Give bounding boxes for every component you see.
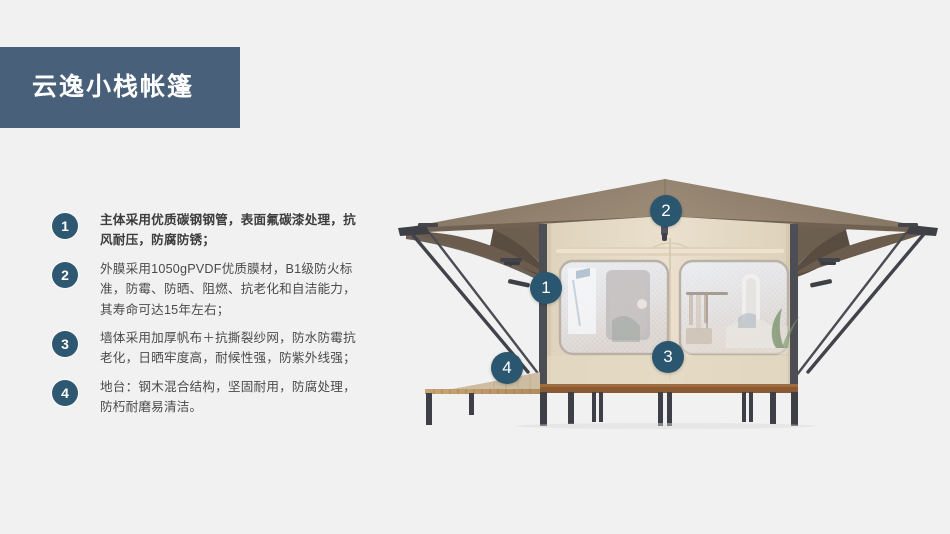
feature-number-badge-2: 2 [52, 262, 78, 288]
feature-text-4: 地台：钢木混合结构，坚固耐用，防腐处理，防朽耐磨易清洁。 [100, 377, 358, 418]
feature-text-3: 墙体采用加厚帆布＋抗撕裂纱网，防水防霉抗老化，日晒牢度高，耐候性强，防紫外线强； [100, 328, 358, 369]
feature-list: 1 主体采用优质碳钢钢管，表面氟碳漆处理，抗风耐压，防腐防锈； 2 外膜采用10… [52, 210, 392, 426]
feature-number-badge-4: 4 [52, 380, 78, 406]
feature-text-1: 主体采用优质碳钢钢管，表面氟碳漆处理，抗风耐压，防腐防锈； [100, 210, 358, 251]
callout-badge-4: 4 [491, 352, 523, 384]
list-item: 1 主体采用优质碳钢钢管，表面氟碳漆处理，抗风耐压，防腐防锈； [52, 210, 392, 251]
callout-badge-1: 1 [530, 272, 562, 304]
slide-canvas: 云逸小栈帐篷 1 主体采用优质碳钢钢管，表面氟碳漆处理，抗风耐压，防腐防锈； 2… [0, 0, 950, 534]
tent-illustration: 1 2 3 4 [390, 176, 950, 431]
feature-number-badge-3: 3 [52, 331, 78, 357]
callout-badge-3: 3 [652, 341, 684, 373]
list-item: 4 地台：钢木混合结构，坚固耐用，防腐处理，防朽耐磨易清洁。 [52, 377, 392, 418]
callout-badge-2: 2 [650, 195, 682, 227]
page-title: 云逸小栈帐篷 [32, 75, 194, 100]
feature-text-2: 外膜采用1050gPVDF优质膜材，B1级防火标准，防霉、防晒、阻燃、抗老化和自… [100, 259, 358, 320]
feature-number-badge-1: 1 [52, 213, 78, 239]
list-item: 3 墙体采用加厚帆布＋抗撕裂纱网，防水防霉抗老化，日晒牢度高，耐候性强，防紫外线… [52, 328, 392, 369]
list-item: 2 外膜采用1050gPVDF优质膜材，B1级防火标准，防霉、防晒、阻燃、抗老化… [52, 259, 392, 320]
title-banner: 云逸小栈帐篷 [0, 47, 240, 128]
